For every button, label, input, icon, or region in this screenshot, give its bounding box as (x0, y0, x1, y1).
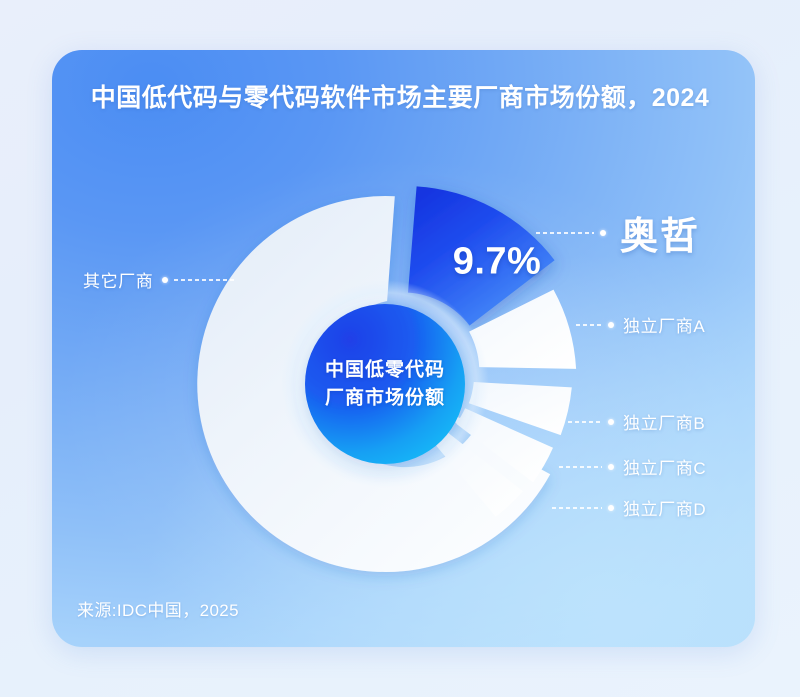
center-label-line1: 中国低零代码 (325, 356, 445, 384)
callout-leader-line (559, 466, 602, 468)
callout-dot-icon (608, 505, 614, 511)
callout-dot-icon (608, 464, 614, 470)
callout-dot-icon (608, 322, 614, 328)
callout-others-label: 其它厂商 (83, 267, 153, 292)
callout-leader-line (568, 421, 602, 423)
callout-dot-icon (162, 277, 168, 283)
callout-vendor-c: 独立厂商C (559, 454, 706, 479)
page-title: 中国低代码与零代码软件市场主要厂商市场份额，2024 (0, 78, 800, 114)
callout-dot-icon (608, 419, 614, 425)
card-gradient-wash (52, 50, 755, 647)
callout-leader-line (174, 279, 236, 281)
callout-vendor-a: 独立厂商A (576, 312, 705, 337)
callout-dot-icon (600, 230, 606, 236)
highlight-slice-value: 9.7% (453, 241, 542, 284)
callout-leader-line (576, 324, 602, 326)
center-label: 中国低零代码 厂商市场份额 (325, 356, 445, 411)
infographic-card (52, 50, 755, 647)
callout-vendor-d-label: 独立厂商D (623, 495, 706, 520)
center-label-line2: 厂商市场份额 (325, 384, 445, 412)
source-note: 来源:IDC中国，2025 (77, 596, 239, 621)
callout-vendor-c-label: 独立厂商C (623, 454, 706, 479)
callout-highlight-label: 奥哲 (620, 205, 700, 260)
callout-vendor-a-label: 独立厂商A (623, 312, 705, 337)
callout-leader-line (536, 232, 594, 234)
callout-leader-line (552, 507, 602, 509)
callout-vendor-d: 独立厂商D (552, 495, 706, 520)
callout-others: 其它厂商 (83, 267, 236, 292)
callout-vendor-b-label: 独立厂商B (623, 409, 705, 434)
callout-highlight: 奥哲 (536, 205, 700, 260)
callout-vendor-b: 独立厂商B (568, 409, 705, 434)
